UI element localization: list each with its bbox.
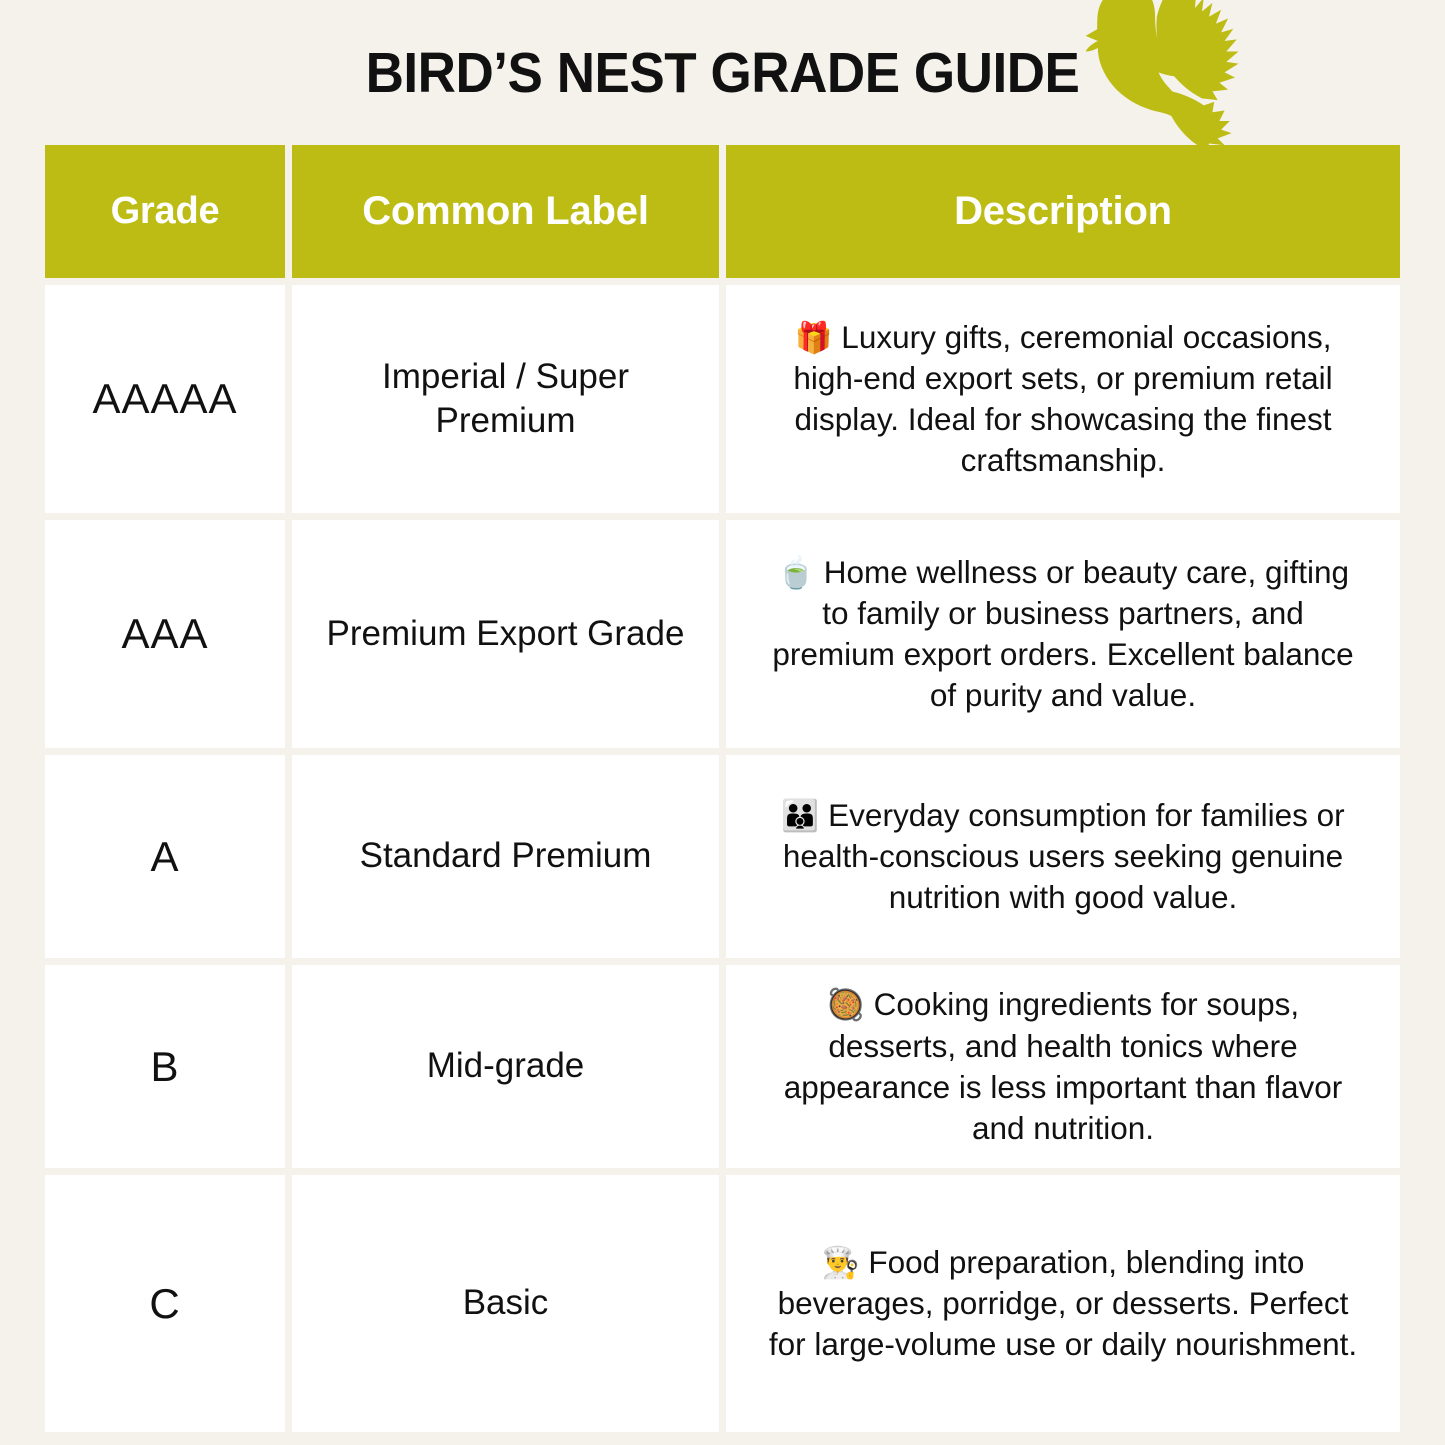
- table-row: AAA Premium Export Grade 🍵 Home wellness…: [45, 520, 1400, 748]
- description-text: 🎁 Luxury gifts, ceremonial occasions, hi…: [726, 317, 1400, 482]
- cell-description: 🍵 Home wellness or beauty care, gifting …: [726, 520, 1400, 748]
- cell-grade: AAA: [45, 520, 285, 748]
- cell-grade: C: [45, 1175, 285, 1432]
- table-row: AAAAA Imperial / Super Premium 🎁 Luxury …: [45, 285, 1400, 513]
- description-value: Luxury gifts, ceremonial occasions, high…: [793, 319, 1332, 479]
- common-label-value: Standard Premium: [334, 834, 678, 878]
- cell-grade: B: [45, 965, 285, 1168]
- column-header-common-label-text: Common Label: [362, 189, 649, 234]
- description-value: Cooking ingredients for soups, desserts,…: [784, 986, 1343, 1146]
- common-label-value: Premium Export Grade: [301, 612, 711, 656]
- grade-value: A: [150, 833, 179, 881]
- column-header-common-label: Common Label: [292, 145, 719, 278]
- common-label-value: Imperial / Super Premium: [292, 355, 719, 443]
- gift-emoji: 🎁: [794, 321, 832, 356]
- cell-common-label: Mid-grade: [292, 965, 719, 1168]
- description-text: 👨‍🍳 Food preparation, blending into beve…: [726, 1242, 1400, 1366]
- table-row: C Basic 👨‍🍳 Food preparation, blending i…: [45, 1175, 1400, 1432]
- cell-grade: AAAAA: [45, 285, 285, 513]
- column-header-description-text: Description: [954, 189, 1172, 234]
- cell-description: 👨‍🍳 Food preparation, blending into beve…: [726, 1175, 1400, 1432]
- common-label-value: Mid-grade: [401, 1044, 611, 1088]
- grade-table: Grade Common Label Description AAAAA Imp…: [45, 145, 1400, 1432]
- cell-description: 🥘 Cooking ingredients for soups, dessert…: [726, 965, 1400, 1168]
- cell-grade: A: [45, 755, 285, 958]
- cell-common-label: Imperial / Super Premium: [292, 285, 719, 513]
- table-header-row: Grade Common Label Description: [45, 145, 1400, 278]
- cell-common-label: Basic: [292, 1175, 719, 1432]
- page-title: BIRD’S NEST GRADE GUIDE: [51, 40, 1395, 106]
- family-emoji: 👪: [781, 799, 819, 834]
- column-header-grade-label: Grade: [111, 190, 220, 233]
- description-text: 👪 Everyday consumption for families or h…: [726, 795, 1400, 919]
- common-label-value: Basic: [437, 1281, 575, 1325]
- grade-value: AAA: [121, 610, 208, 658]
- description-text: 🥘 Cooking ingredients for soups, dessert…: [726, 984, 1400, 1149]
- cell-common-label: Standard Premium: [292, 755, 719, 958]
- column-header-grade: Grade: [45, 145, 285, 278]
- shallow-pan-of-food-emoji: 🥘: [827, 988, 865, 1023]
- table-row: B Mid-grade 🥘 Cooking ingredients for so…: [45, 965, 1400, 1168]
- description-text: 🍵 Home wellness or beauty care, gifting …: [726, 552, 1400, 717]
- cell-description: 🎁 Luxury gifts, ceremonial occasions, hi…: [726, 285, 1400, 513]
- man-cook-emoji: 👨‍🍳: [822, 1246, 860, 1281]
- title-bar: BIRD’S NEST GRADE GUIDE: [0, 0, 1445, 145]
- grade-value: C: [149, 1280, 180, 1328]
- column-header-description: Description: [726, 145, 1400, 278]
- grade-value: AAAAA: [92, 375, 237, 423]
- cell-description: 👪 Everyday consumption for families or h…: [726, 755, 1400, 958]
- table-row: A Standard Premium 👪 Everyday consumptio…: [45, 755, 1400, 958]
- description-value: Everyday consumption for families or hea…: [783, 797, 1345, 916]
- teacup-emoji: 🍵: [777, 556, 815, 591]
- cell-common-label: Premium Export Grade: [292, 520, 719, 748]
- description-value: Home wellness or beauty care, gifting to…: [772, 554, 1353, 714]
- grade-value: B: [150, 1043, 179, 1091]
